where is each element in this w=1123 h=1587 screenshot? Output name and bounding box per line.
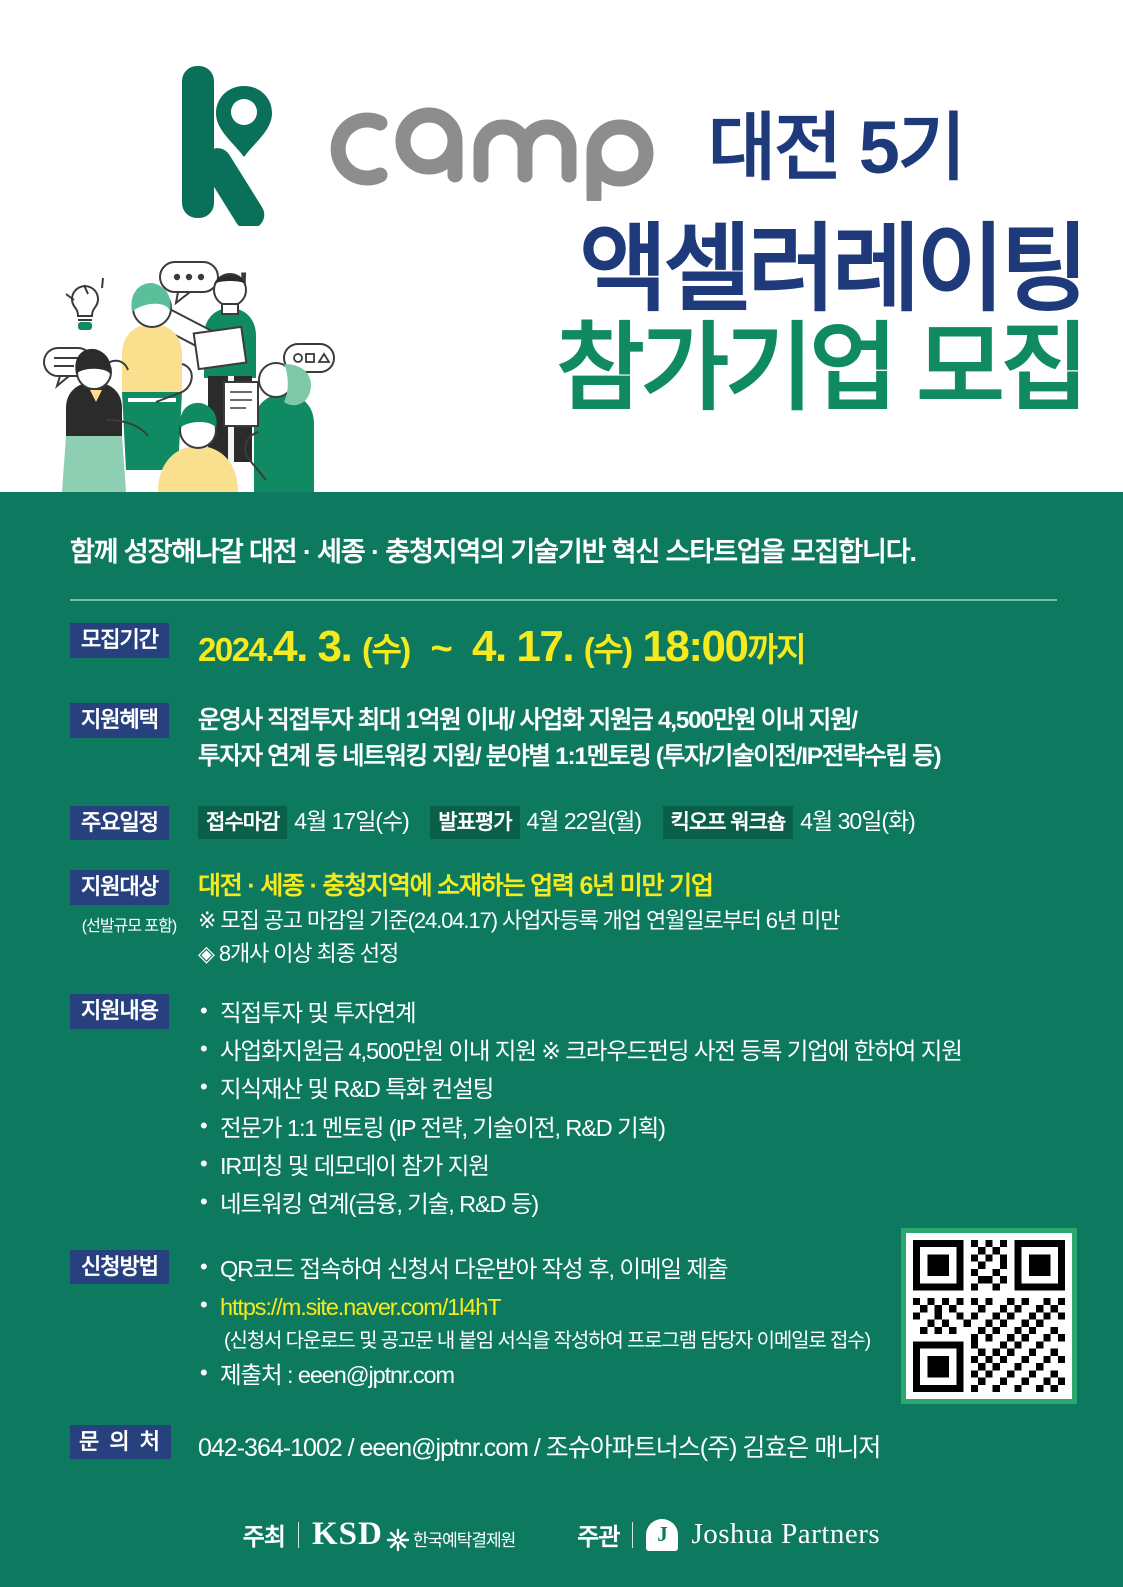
target-badge: 지원대상 bbox=[70, 870, 169, 905]
list-item: 네트워킹 연계(금융, 기술, R&D 등) bbox=[198, 1185, 1083, 1223]
period-end: 4. 17. bbox=[472, 622, 573, 671]
period-suffix: 까지 bbox=[747, 631, 805, 668]
ksd-name-kr: 한국예탁결제원 bbox=[413, 1526, 515, 1551]
period-row: 모집기간 2024.4. 3. (수) ~ 4. 17. (수) 18:00까지 bbox=[0, 623, 1123, 669]
qr-code[interactable] bbox=[901, 1228, 1077, 1404]
qr-code-image bbox=[913, 1240, 1065, 1392]
schedule-badge: 주요일정 bbox=[70, 806, 169, 841]
benefit-content: 운영사 직접투자 최대 1억원 이내/ 사업화 지원금 4,500만원 이내 지… bbox=[198, 703, 1083, 776]
schedule-date-1: 4월 22일(월) bbox=[527, 808, 642, 834]
period-label-col: 모집기간 bbox=[70, 623, 198, 669]
benefit-badge: 지원혜택 bbox=[70, 703, 169, 738]
contact-row: 문 의 처 042-364-1002 / eeen@jptnr.com / 조슈… bbox=[0, 1425, 1123, 1464]
footer-separator bbox=[632, 1522, 633, 1548]
target-main-text: 대전 · 세종 · 충청지역에 소재하는 업력 6년 미만 기업 bbox=[198, 870, 1083, 904]
target-sublabel: (선발규모 포함) bbox=[70, 912, 188, 936]
schedule-chip-1: 발표평가 bbox=[430, 806, 519, 839]
list-item: 전문가 1:1 멘토링 (IP 전략, 기술이전, R&D 기획) bbox=[198, 1109, 1083, 1147]
benefit-label-col: 지원혜택 bbox=[70, 703, 198, 776]
lead-text: 함께 성장해나갈 대전 · 세종 · 충청지역의 기술기반 혁신 스타트업을 모… bbox=[0, 492, 1123, 569]
support-list: 직접투자 및 투자연계 사업화지원금 4,500만원 이내 지원 ※ 크라우드펀… bbox=[198, 994, 1083, 1224]
schedule-chip-2: 킥오프 워크숍 bbox=[663, 806, 794, 839]
apply-label-col: 신청방법 bbox=[70, 1250, 198, 1395]
contact-info: 042-364-1002 / eeen@jptnr.com / 조슈아파트너스(… bbox=[198, 1425, 1083, 1464]
period-tilde: ~ bbox=[421, 628, 462, 670]
schedule-row: 주요일정 접수마감4월 17일(수) 발표평가4월 22일(월) 킥오프 워크숍… bbox=[0, 806, 1123, 841]
period-start-day: (수) bbox=[362, 631, 410, 668]
k-logo-icon bbox=[178, 58, 300, 226]
people-illustration: ! bbox=[36, 248, 366, 492]
main-title: 액셀러레이팅 참가기업 모집 bbox=[556, 222, 1085, 416]
period-end-day: (수) bbox=[584, 631, 632, 668]
period-year: 2024. bbox=[198, 631, 273, 668]
period-start: 4. 3. bbox=[273, 622, 351, 671]
benefit-line-1: 운영사 직접투자 최대 1억원 이내/ 사업화 지원금 4,500만원 이내 지… bbox=[198, 703, 1083, 739]
schedule-date-0: 4월 17일(수) bbox=[294, 808, 409, 834]
ksd-logo: KSD 한국예탁결제원 bbox=[312, 1516, 515, 1553]
title-line-1: 액셀러레이팅 bbox=[556, 222, 1085, 317]
period-badge: 모집기간 bbox=[70, 623, 169, 658]
period-value: 2024.4. 3. (수) ~ 4. 17. (수) 18:00까지 bbox=[198, 623, 1083, 669]
schedule-content: 접수마감4월 17일(수) 발표평가4월 22일(월) 킥오프 워크숍4월 30… bbox=[198, 806, 1083, 841]
section-divider bbox=[70, 599, 1057, 601]
apply-badge: 신청방법 bbox=[70, 1250, 169, 1285]
period-time: 18:00 bbox=[642, 622, 747, 671]
support-badge: 지원내용 bbox=[70, 994, 169, 1029]
host-role-label: 주최 bbox=[243, 1517, 285, 1552]
ksd-sparkle-icon bbox=[385, 1527, 411, 1553]
organizer-role-label: 주관 bbox=[577, 1517, 619, 1552]
list-item: 직접투자 및 투자연계 bbox=[198, 994, 1083, 1032]
title-line-2: 참가기업 모집 bbox=[556, 321, 1085, 416]
joshua-partners-icon: J bbox=[646, 1519, 678, 1551]
list-item: 사업화지원금 4,500만원 이내 지원 ※ 크라우드펀딩 사전 등록 기업에 … bbox=[198, 1032, 1083, 1070]
footer: 주최 KSD 한국예탁결제원 주관 J Joshua Partners bbox=[0, 1516, 1123, 1553]
poster-root: 대전 5기 bbox=[0, 0, 1123, 1587]
support-label-col: 지원내용 bbox=[70, 994, 198, 1224]
organizer-name: Joshua Partners bbox=[691, 1518, 880, 1551]
support-content: 직접투자 및 투자연계 사업화지원금 4,500만원 이내 지원 ※ 크라우드펀… bbox=[198, 994, 1083, 1224]
target-label-col: 지원대상 (선발규모 포함) bbox=[70, 870, 198, 970]
ksd-name: KSD bbox=[312, 1516, 383, 1553]
list-item: 지식재산 및 R&D 특화 컨설팅 bbox=[198, 1070, 1083, 1108]
camp-wordmark bbox=[318, 97, 690, 201]
target-content: 대전 · 세종 · 충청지역에 소재하는 업력 6년 미만 기업 ※ 모집 공고… bbox=[198, 870, 1083, 970]
target-note-2: ◈ 8개사 이상 최종 선정 bbox=[198, 937, 1083, 970]
edition-label: 대전 5기 bbox=[708, 111, 964, 185]
contact-badge: 문 의 처 bbox=[70, 1425, 171, 1460]
target-note-1: ※ 모집 공고 마감일 기준(24.04.17) 사업자등록 개업 연월일로부터… bbox=[198, 904, 1083, 937]
contact-label-col: 문 의 처 bbox=[70, 1425, 198, 1464]
schedule-label-col: 주요일정 bbox=[70, 806, 198, 841]
schedule-chip-0: 접수마감 bbox=[198, 806, 287, 839]
host-group: 주최 KSD 한국예탁결제원 bbox=[243, 1516, 516, 1553]
benefit-line-2: 투자자 연계 등 네트워킹 지원/ 분야별 1:1멘토링 (투자/기술이전/IP… bbox=[198, 739, 1083, 775]
organizer-group: 주관 J Joshua Partners bbox=[577, 1517, 880, 1552]
benefit-row: 지원혜택 운영사 직접투자 최대 1억원 이내/ 사업화 지원금 4,500만원… bbox=[0, 703, 1123, 776]
target-row: 지원대상 (선발규모 포함) 대전 · 세종 · 충청지역에 소재하는 업력 6… bbox=[0, 870, 1123, 970]
brand-logo: 대전 5기 bbox=[178, 58, 964, 226]
footer-separator bbox=[298, 1522, 299, 1548]
list-item: IR피칭 및 데모데이 참가 지원 bbox=[198, 1147, 1083, 1185]
hero-section: 대전 5기 bbox=[0, 0, 1123, 492]
support-row: 지원내용 직접투자 및 투자연계 사업화지원금 4,500만원 이내 지원 ※ … bbox=[0, 994, 1123, 1224]
schedule-date-2: 4월 30일(화) bbox=[800, 808, 915, 834]
